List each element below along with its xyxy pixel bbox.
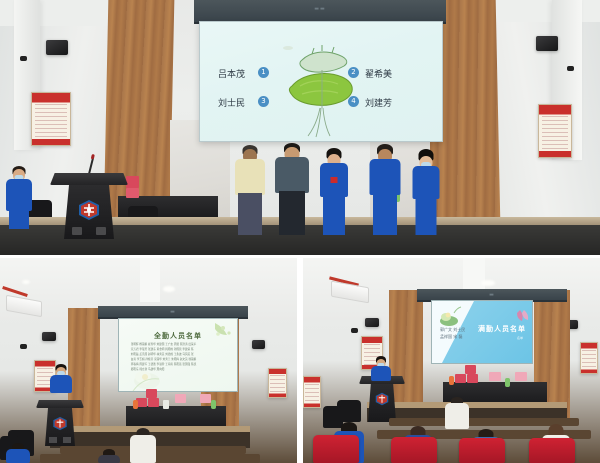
podium-top: [50, 173, 128, 185]
recipient-3: [313, 143, 355, 235]
right-wall-poster: [538, 104, 572, 158]
podium-body: [368, 384, 396, 422]
poster-text-lines: [305, 384, 318, 403]
top-group-photo: ▬▬ 吕本茂 1 2 翟希美 刘士民 3 4 刘建芳: [0, 0, 600, 255]
gift-box: [467, 374, 478, 383]
gift-box: [455, 374, 466, 383]
podium-body: [64, 185, 114, 239]
slide-entry-number-1: 1: [258, 67, 269, 78]
gift-box: [146, 389, 157, 398]
camera-icon: [20, 344, 27, 349]
slide-entry-name-2: 翟希美: [365, 67, 392, 80]
audience-member: [128, 427, 158, 463]
company-logo-icon: [77, 199, 101, 221]
poster-text-lines: [270, 375, 284, 393]
slide-body: 张明辉 杨丽娟 崔秀华 刘建国 王广友 周慧 陈洪涛 田荣平 宋万君 李瑞芳 张…: [131, 343, 225, 373]
seat: [391, 437, 437, 463]
slide-entry-name-3: 刘士民: [218, 96, 245, 109]
podium-plate-right: [63, 437, 71, 443]
gift-box: [126, 188, 139, 198]
slide-entry-number-4: 4: [348, 96, 359, 107]
recipient-4: [362, 139, 408, 235]
ceiling-light: [163, 286, 175, 292]
housing-brand-label: ▬▬: [314, 6, 325, 12]
slide-title: 满勤人员名单: [478, 324, 526, 334]
projection-screen: 满勤人员名单 名单 郭广文 刘士民 孟祥国 宋 磊: [431, 300, 533, 364]
audience-member: [4, 443, 32, 463]
right-soffit: [482, 0, 600, 22]
ceiling-light: [22, 280, 30, 284]
camera-icon: [567, 66, 574, 71]
podium-speaker: [48, 363, 74, 393]
gift-box: [126, 176, 139, 188]
camera-icon: [351, 328, 358, 333]
gift-box: [200, 394, 211, 403]
slide-subtitle: 名单: [517, 336, 523, 340]
left-wall-poster: [31, 92, 71, 146]
slide-title: 全勤人员名单: [119, 331, 237, 341]
slide-names: 郭广文 刘士民 孟祥国 宋 磊: [440, 326, 465, 341]
audience-member: [443, 397, 471, 429]
bottle: [133, 400, 138, 409]
photo-collage: ▬▬ 吕本茂 1 2 翟希美 刘士民 3 4 刘建芳: [0, 0, 600, 463]
gift-box: [515, 372, 527, 381]
podium-speaker: [369, 355, 393, 381]
poster-text-lines: [35, 104, 67, 137]
bottom-right-photo: ▬ 满勤人员名单 名单 郭广文 刘士民 孟祥国 宋 磊: [303, 258, 600, 463]
right-wall-poster: [580, 342, 598, 374]
podium: [363, 376, 401, 422]
bottom-left-photo: ▬ 全勤人员名单 张明辉 杨丽娟 崔秀华 刘建国 王广友 周: [0, 258, 297, 463]
audience-member: [96, 449, 122, 463]
gift-box: [489, 372, 501, 381]
lotus-illustration: [276, 30, 366, 138]
podium: [56, 173, 122, 239]
bottle: [449, 376, 454, 385]
gift-table: [126, 406, 226, 428]
badge-icon: [331, 177, 338, 183]
recipient-5: [406, 145, 446, 235]
person-blue-left: [2, 159, 36, 229]
podium-plate-left: [72, 227, 82, 235]
podium: [40, 400, 80, 446]
right-wall-poster: [268, 368, 287, 398]
speaker-icon: [365, 318, 379, 327]
slide-entry-number-3: 3: [258, 96, 269, 107]
seat: [313, 435, 359, 463]
poster-text-lines: [582, 350, 595, 369]
bottle: [211, 400, 216, 409]
projection-screen: 吕本茂 1 2 翟希美 刘士民 3 4 刘建芳: [199, 21, 443, 142]
speaker-icon: [252, 340, 265, 349]
seat: [459, 438, 505, 463]
ceiling-light: [481, 280, 495, 286]
speaker-icon: [42, 332, 56, 341]
company-logo-icon: [52, 416, 68, 431]
left-wall-poster-2: [303, 376, 321, 408]
gift-box: [175, 394, 186, 403]
speaker-icon: [536, 36, 558, 51]
speaker-icon: [46, 40, 68, 55]
podium-plate-left: [49, 437, 57, 443]
podium-top: [36, 400, 84, 408]
projection-screen: 全勤人员名单 张明辉 杨丽娟 崔秀华 刘建国 王广友 周慧 陈洪涛 田荣平 宋万…: [118, 318, 238, 392]
company-logo-icon: [375, 392, 390, 406]
slide-entry-name-4: 刘建芳: [365, 96, 392, 109]
recipient-2: [268, 137, 316, 235]
housing-brand-label: ▬: [489, 292, 495, 298]
seat: [529, 438, 575, 463]
housing-brand-label: ▬: [170, 309, 176, 315]
slide-entry-number-2: 2: [348, 67, 359, 78]
gift-box: [465, 365, 476, 374]
podium-plate-right: [96, 227, 106, 235]
ceiling-beam: [140, 258, 160, 302]
recipient-1: [228, 139, 272, 235]
bottle: [505, 378, 510, 387]
podium-body: [45, 408, 75, 446]
poster-text-lines: [542, 116, 569, 149]
slide-entry-name-1: 吕本茂: [218, 67, 245, 80]
bottle: [163, 400, 169, 409]
gift-box: [148, 398, 159, 407]
camera-icon: [20, 56, 27, 61]
